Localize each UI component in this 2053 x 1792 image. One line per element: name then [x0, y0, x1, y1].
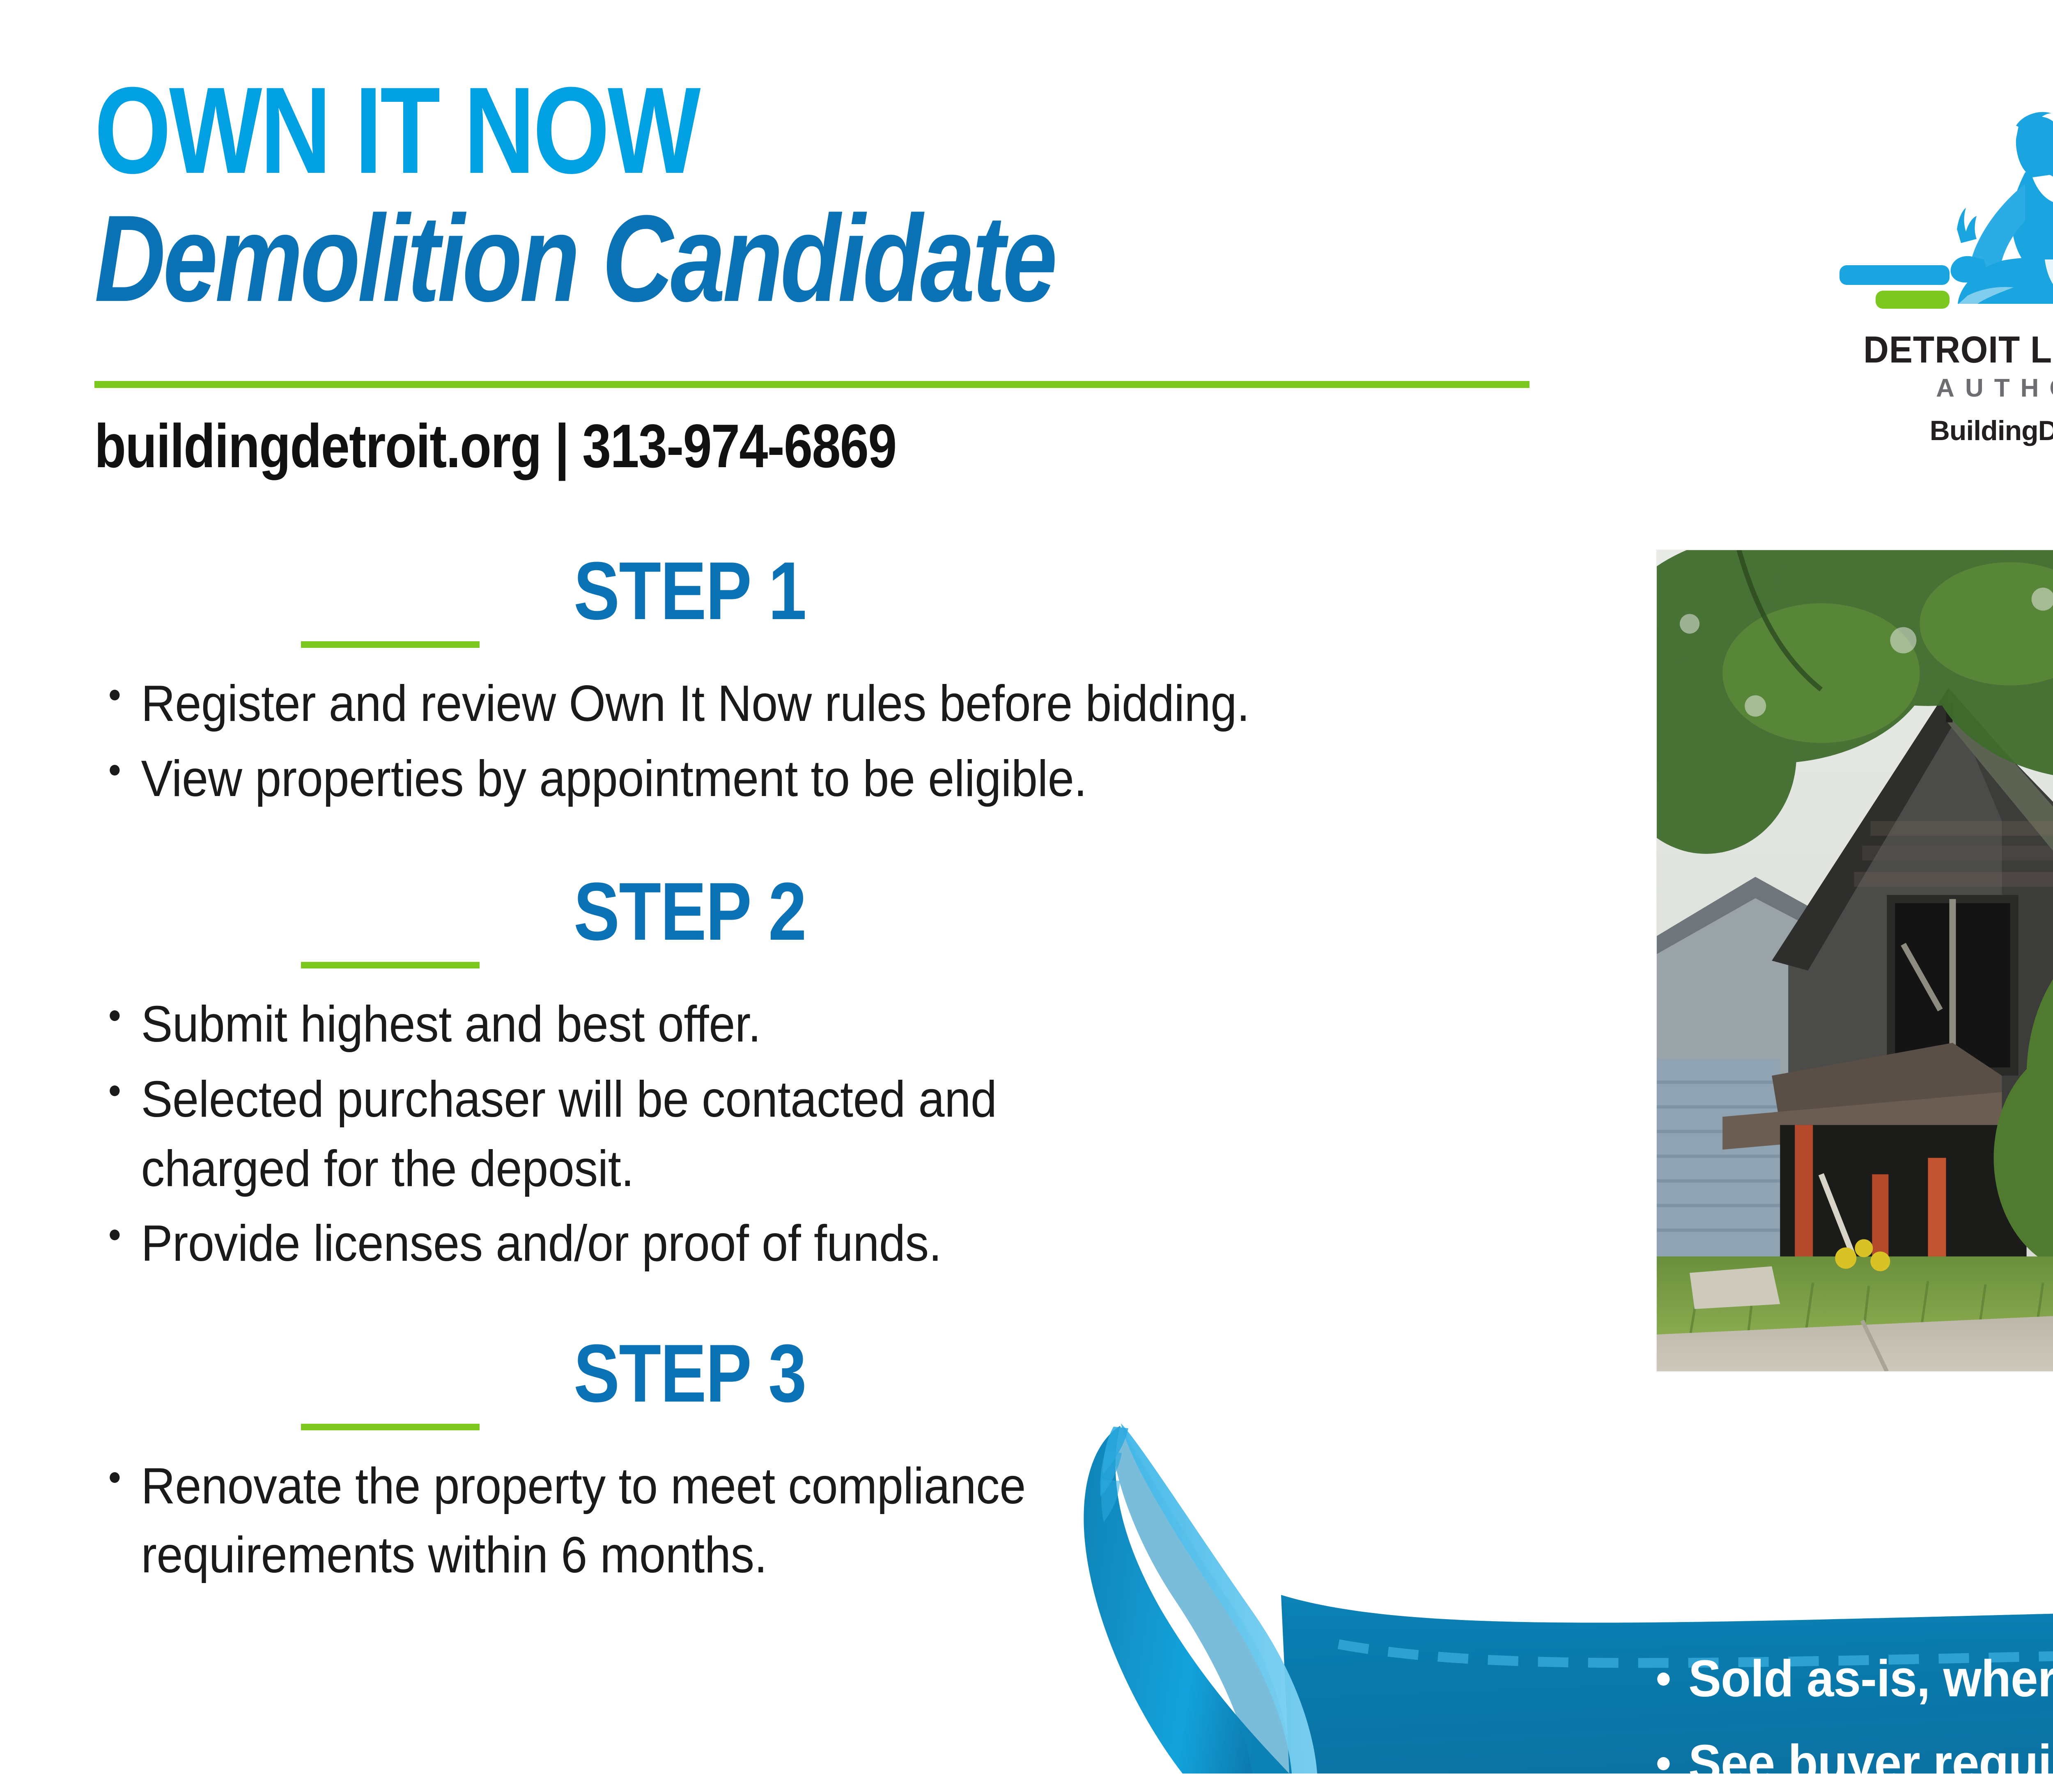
bullet-dot-icon	[1657, 1588, 1669, 1601]
contact-info[interactable]: buildingdetroit.org | 313-974-6869	[94, 411, 896, 482]
step-underline-2	[301, 962, 480, 968]
bullet-dot-icon	[110, 1472, 119, 1483]
banner-bullet-list: Not move-in ready Sold as-is, where-is S…	[1642, 1568, 2053, 1789]
step-underline-3	[301, 1424, 480, 1430]
step-block-1: STEP 1 Register and review Own It Now ru…	[94, 550, 1556, 813]
list-item: View properties by appointment to be eli…	[94, 744, 1454, 814]
spirit-of-detroit-icon	[1839, 74, 2053, 320]
bullet-text: Register and review Own It Now rules bef…	[141, 675, 1249, 732]
list-item: Renovate the property to meet compliance…	[94, 1452, 1118, 1590]
list-item: Provide licenses and/or proof of funds.	[94, 1209, 1454, 1278]
page-title-primary: OWN IT NOW	[94, 70, 1277, 190]
bullet-dot-icon	[110, 1085, 119, 1096]
list-item: Register and review Own It Now rules bef…	[94, 669, 1454, 739]
list-item: See buyer requirements	[1642, 1737, 2053, 1789]
headline-block: OWN IT NOW Demolition Candidate	[94, 70, 1573, 324]
bullet-dot-icon	[1657, 1757, 1669, 1770]
bullet-dot-icon	[110, 690, 119, 700]
bullet-text: Selected purchaser will be contacted and…	[141, 1071, 997, 1197]
bullet-text: View properties by appointment to be eli…	[141, 750, 1087, 807]
bullet-dot-icon	[110, 765, 119, 776]
step-block-2: STEP 2 Submit highest and best offer. Se…	[94, 871, 1556, 1278]
property-photo	[1657, 550, 2053, 1371]
logo-url[interactable]: BuildingDetroit.org	[1839, 415, 2053, 447]
step-heading-3: STEP 3	[190, 1333, 1190, 1415]
bullet-text: Provide licenses and/or proof of funds.	[141, 1215, 942, 1272]
list-item: Sold as-is, where-is	[1642, 1653, 2053, 1705]
list-item: Submit highest and best offer.	[94, 990, 1454, 1059]
title-divider-rule	[94, 381, 1529, 388]
logo-name: DETROIT LAND BANK	[1854, 328, 2053, 372]
page-title-secondary: Demolition Candidate	[94, 193, 1277, 324]
bullet-dot-icon	[110, 1010, 119, 1021]
list-item: Not move-in ready	[1642, 1568, 2053, 1620]
bullet-dot-icon	[110, 1230, 119, 1240]
step-underline-1	[301, 641, 480, 648]
bullet-text: Submit highest and best offer.	[141, 996, 761, 1053]
bullet-text: Renovate the property to meet compliance…	[141, 1458, 1025, 1584]
banner-bullet-text: Not move-in ready	[1688, 1565, 2053, 1623]
step-heading-2: STEP 2	[190, 871, 1190, 953]
step-heading-1: STEP 1	[190, 550, 1190, 632]
step-bullets-1: Register and review Own It Now rules bef…	[94, 669, 1556, 813]
flyer-canvas: OWN IT NOW Demolition Candidate building…	[0, 0, 2053, 1774]
logo-subtitle: AUTHORITY	[1839, 374, 2053, 403]
bullet-dot-icon	[1657, 1673, 1669, 1686]
dlba-logo[interactable]: DETROIT LAND BANK AUTHORITY BuildingDetr…	[1839, 74, 2053, 443]
banner-bullet-text: Sold as-is, where-is	[1688, 1650, 2053, 1707]
list-item: Selected purchaser will be contacted and…	[94, 1065, 1095, 1203]
banner-bullet-text: See buyer requirements	[1688, 1734, 2053, 1792]
step-bullets-2: Submit highest and best offer. Selected …	[94, 990, 1556, 1278]
